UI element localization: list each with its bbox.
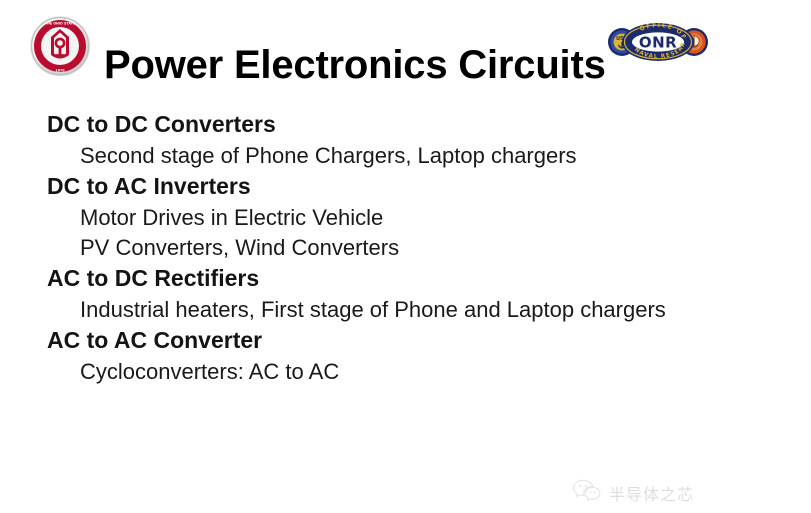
outline-group: AC to AC Converter Cycloconverters: AC t…: [0, 325, 811, 386]
office-of-naval-research-logo-icon: USN ONR OFFICE OF NAVAL RESE: [606, 17, 710, 67]
ohio-state-university-seal-icon: THE OHIO STATE 1870: [29, 15, 91, 77]
outline-item: Cycloconverters: AC to AC: [0, 357, 811, 386]
outline-heading: DC to DC Converters: [0, 109, 811, 139]
outline-heading: DC to AC Inverters: [0, 171, 811, 201]
wechat-icon: [572, 478, 602, 507]
outline-heading: AC to AC Converter: [0, 325, 811, 355]
slide-title: Power Electronics Circuits: [104, 41, 606, 89]
outline-group: DC to AC Inverters Motor Drives in Elect…: [0, 171, 811, 262]
outline-heading: AC to DC Rectifiers: [0, 263, 811, 293]
slide-header: THE OHIO STATE 1870 Power Electronics Ci…: [0, 0, 811, 100]
svg-text:1870: 1870: [55, 68, 65, 72]
outline-group: AC to DC Rectifiers Industrial heaters, …: [0, 263, 811, 324]
outline-item: Industrial heaters, First stage of Phone…: [0, 295, 811, 324]
outline-item: Second stage of Phone Chargers, Laptop c…: [0, 141, 811, 170]
watermark-label: 半导体之芯: [609, 481, 694, 505]
outline-group: DC to DC Converters Second stage of Phon…: [0, 109, 811, 170]
watermark: 半导体之芯: [572, 478, 694, 507]
slide-body-outline: DC to DC Converters Second stage of Phon…: [0, 109, 811, 387]
slide-canvas: THE OHIO STATE 1870 Power Electronics Ci…: [0, 0, 811, 513]
outline-item: PV Converters, Wind Converters: [0, 233, 811, 262]
svg-text:ONR: ONR: [639, 34, 677, 52]
outline-item: Motor Drives in Electric Vehicle: [0, 203, 811, 232]
svg-text:THE OHIO STATE: THE OHIO STATE: [45, 22, 76, 26]
